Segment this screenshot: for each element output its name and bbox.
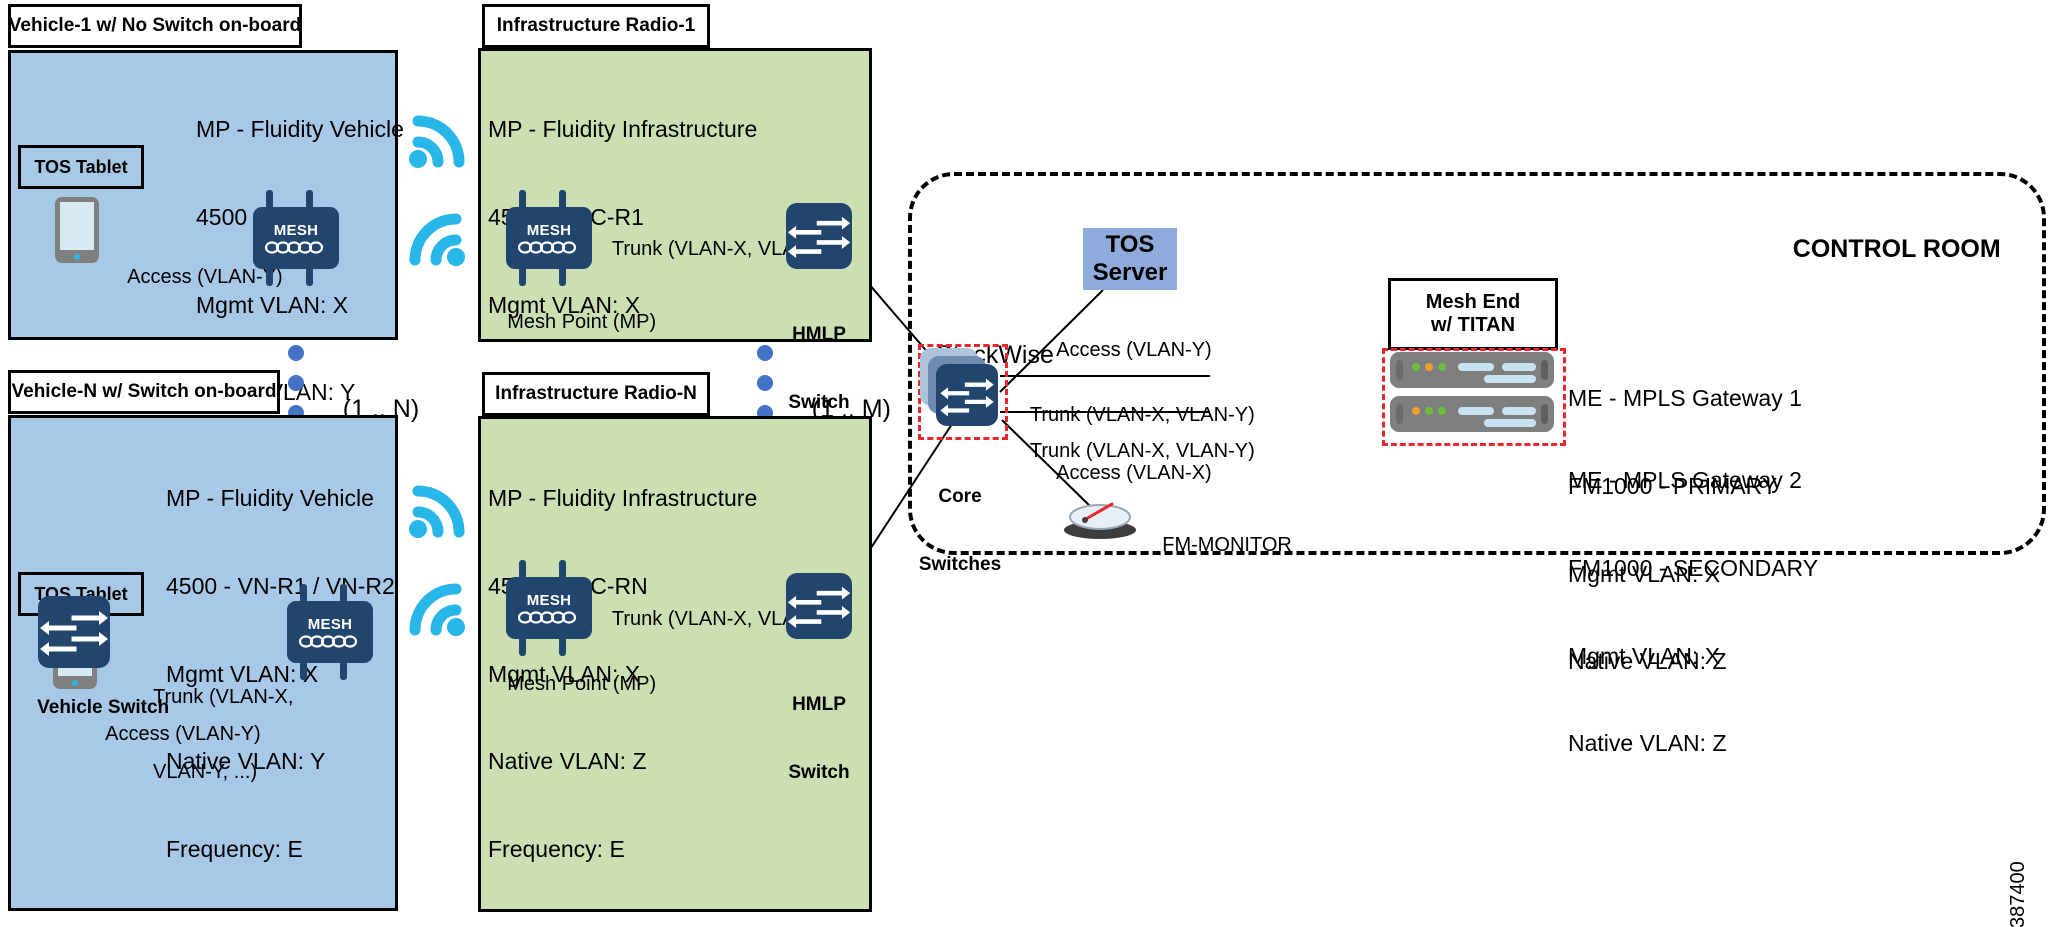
mesh-label: MESH xyxy=(527,593,572,608)
vehicleN-spec-1: 4500 - VN-R1 / VN-R2 xyxy=(166,572,395,601)
tos-server-line2: Server xyxy=(1093,259,1168,287)
infra1-hmlp-switch-icon xyxy=(786,203,852,269)
gateway2-spec-2: Mgmt VLAN: X xyxy=(1568,642,1818,671)
mpls-gateway-1-icon xyxy=(1390,352,1554,388)
core-switches-label: Core Switches xyxy=(914,440,1006,622)
tos-server-box: TOS Server xyxy=(1083,228,1177,290)
vehicleN-title: Vehicle-N w/ Switch on-board xyxy=(12,381,277,403)
infraN-spec-0: MP - Fluidity Infrastructure xyxy=(488,484,757,513)
infraN-spec-3: Native VLAN: Z xyxy=(488,747,757,776)
mesh-chain-icon xyxy=(265,241,327,254)
infra-multiplicity-dots xyxy=(757,345,773,421)
mesh-chain-icon xyxy=(518,611,580,624)
fm-monitor-icon xyxy=(1060,490,1140,540)
infra1-title-chip: Infrastructure Radio-1 xyxy=(482,4,710,48)
mesh-label: MESH xyxy=(527,223,572,238)
infra1-mesh-point-label: Mesh Point (MP) xyxy=(485,285,656,361)
infraN-spec-4: Frequency: E xyxy=(488,835,757,864)
infraN-mesh-point-label: Mesh Point (MP) xyxy=(485,647,656,723)
vehicleN-trunk-label: Trunk (VLAN-X, VLAN-Y, ...) xyxy=(153,635,293,835)
control-room-title: CONTROL ROOM xyxy=(1765,202,2001,297)
vehicle1-title: Vehicle-1 w/ No Switch on-board xyxy=(9,15,301,37)
vehicleN-title-chip: Vehicle-N w/ Switch on-board xyxy=(8,370,280,414)
fm-monitor-label: FM-MONITOR xyxy=(1140,508,1292,584)
infra1-title: Infrastructure Radio-1 xyxy=(497,15,695,37)
network-architecture-diagram: Vehicle-1 w/ No Switch on-board MP - Flu… xyxy=(0,0,2056,927)
gateway2-specs: ME - MPLS Gateway 2 FM1000 - SECONDARY M… xyxy=(1568,408,1818,817)
infraN-title-chip: Infrastructure Radio-N xyxy=(482,372,710,416)
gateway2-spec-3: Native VLAN: Z xyxy=(1568,729,1818,758)
vehicle1-title-chip: Vehicle-1 w/ No Switch on-board xyxy=(8,4,302,48)
tos-server-line1: TOS xyxy=(1093,231,1168,259)
tablet-home-button xyxy=(74,254,80,260)
mpls-gateway-2-icon xyxy=(1390,396,1554,432)
vehicle-switch-icon xyxy=(38,596,110,668)
wifi-signal-icon-top-left xyxy=(408,202,466,274)
vehicle-multiplicity-dots xyxy=(288,345,304,421)
wifi-signal-icon-top-right xyxy=(408,104,466,176)
gateway2-spec-0: ME - MPLS Gateway 2 xyxy=(1568,466,1818,495)
core-switches-stack-icon xyxy=(920,348,1000,432)
gateway2-spec-1: FM1000 - SECONDARY xyxy=(1568,554,1818,583)
vehicle1-spec-0: MP - Fluidity Vehicle xyxy=(196,115,404,144)
mesh-chain-icon xyxy=(518,241,580,254)
figure-id: 387400 xyxy=(2007,861,2030,927)
infraN-title: Infrastructure Radio-N xyxy=(495,383,697,405)
vehicleN-spec-0: MP - Fluidity Vehicle xyxy=(166,484,395,513)
vehicle-switch-label: Vehicle Switch xyxy=(16,672,169,744)
mesh-label: MESH xyxy=(308,617,353,632)
wifi-signal-icon-bottom-right xyxy=(408,474,466,546)
vehicleN-spec-4: Frequency: E xyxy=(166,835,395,864)
vehicle1-tablet-icon xyxy=(55,197,99,263)
mesh-chain-icon xyxy=(299,635,361,648)
infraN-hmlp-switch-label: HMLP Switch xyxy=(786,648,852,830)
infraN-hmlp-switch-icon xyxy=(786,573,852,639)
tablet-screen xyxy=(60,202,94,250)
mesh-label: MESH xyxy=(274,223,319,238)
mesh-end-titan-label: Mesh End w/ TITAN xyxy=(1388,278,1558,350)
wifi-signal-icon-bottom-left xyxy=(408,572,466,644)
infra1-spec-0: MP - Fluidity Infrastructure xyxy=(488,115,757,144)
vehicle1-tos-tablet-text: TOS Tablet xyxy=(34,157,127,178)
vehicle1-tos-tablet-label: TOS Tablet xyxy=(18,145,144,189)
